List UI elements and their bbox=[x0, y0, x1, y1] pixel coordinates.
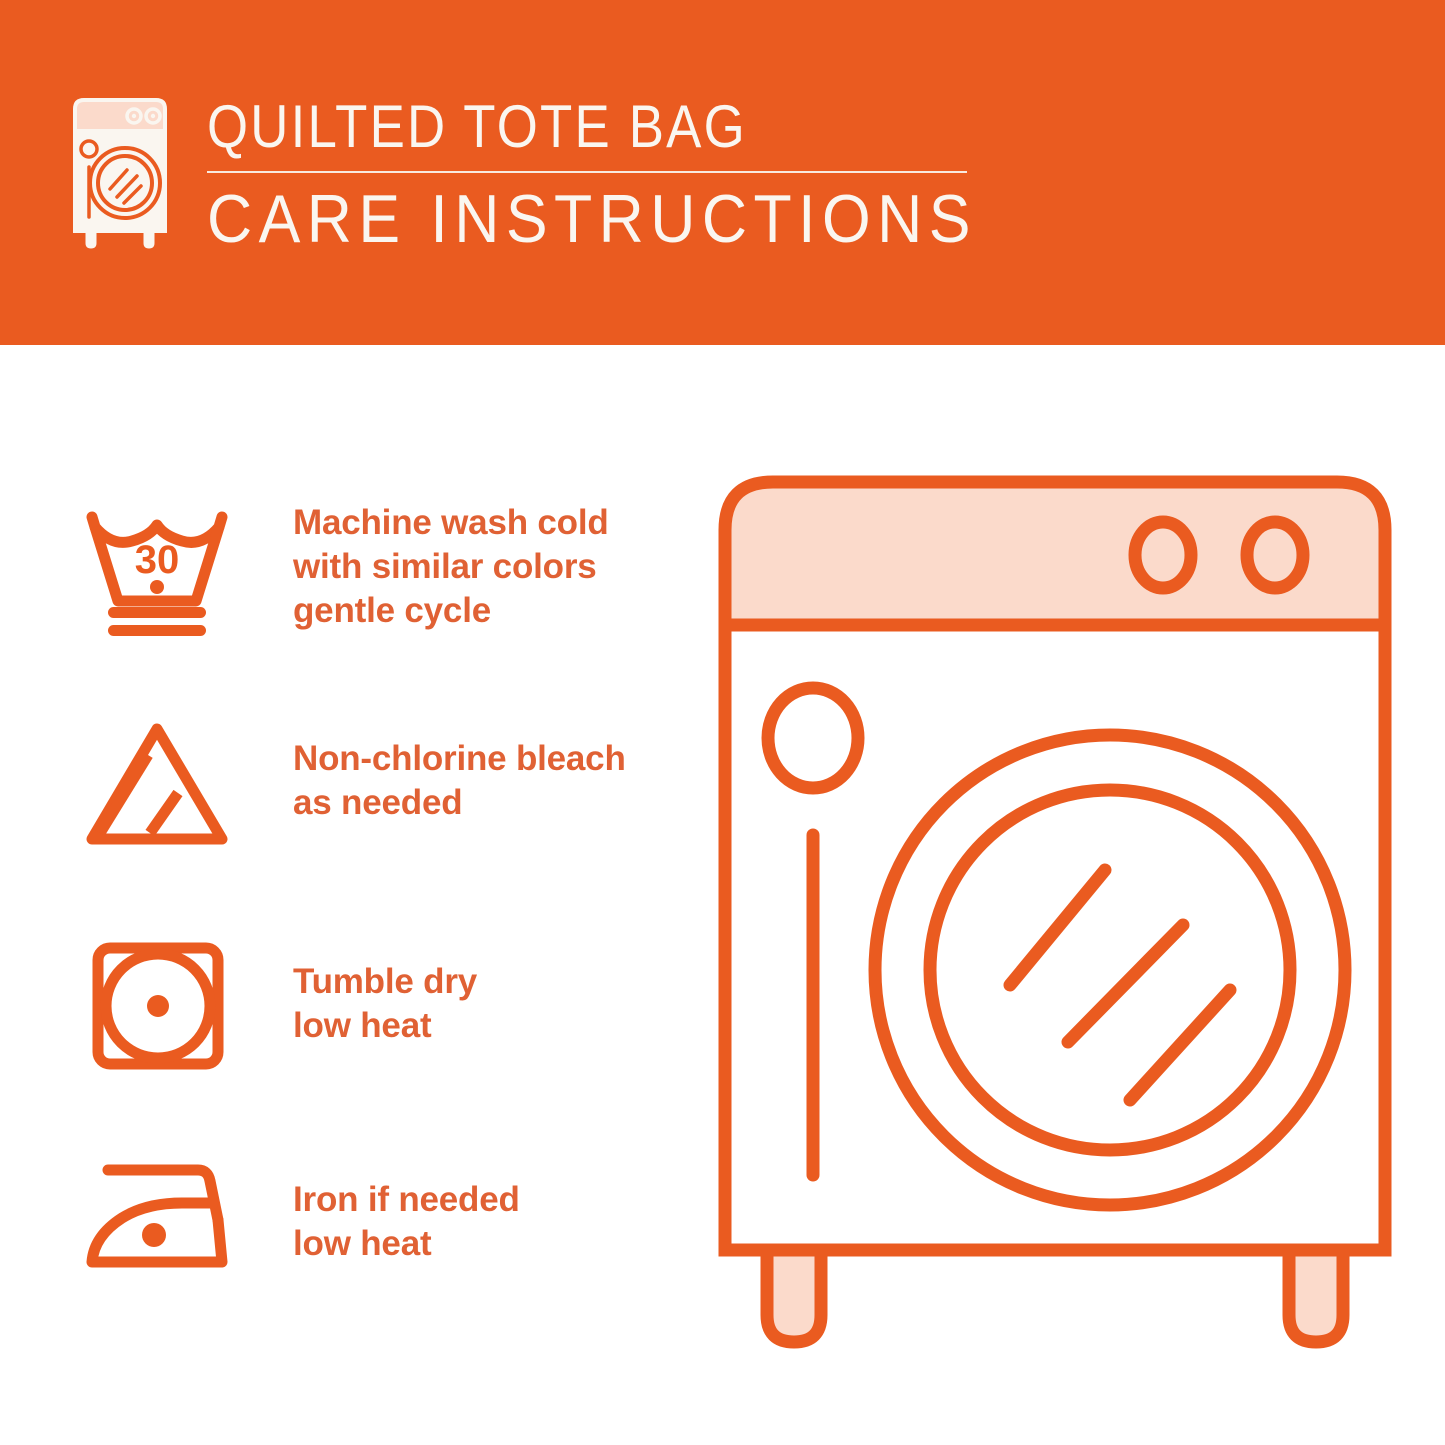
care-label-line: Non-chlorine bleach bbox=[293, 737, 626, 781]
iron-symbol-container bbox=[70, 1150, 245, 1290]
care-label-line: as needed bbox=[293, 781, 626, 825]
title-divider bbox=[207, 171, 967, 173]
care-label-machine-wash: Machine wash cold with similar colors ge… bbox=[293, 495, 609, 633]
wash-dot bbox=[150, 580, 164, 594]
gentle-bar-2 bbox=[108, 625, 206, 636]
page-title: QUILTED TOTE BAG bbox=[207, 95, 943, 159]
care-row-bleach: Non-chlorine bleach as needed bbox=[70, 715, 690, 855]
control-panel bbox=[725, 482, 1385, 625]
care-label-line: Machine wash cold bbox=[293, 501, 609, 545]
washing-machine-icon bbox=[65, 97, 175, 249]
header-banner: QUILTED TOTE BAG CARE INSTRUCTIONS bbox=[0, 0, 1445, 345]
washing-machine-illustration bbox=[715, 470, 1395, 1370]
tumble-dry-low-heat-icon bbox=[70, 930, 245, 1080]
header-titles: QUILTED TOTE BAG CARE INSTRUCTIONS bbox=[207, 93, 1044, 255]
care-label-line: with similar colors bbox=[293, 545, 609, 589]
leg-right bbox=[1289, 1250, 1343, 1342]
header-content: QUILTED TOTE BAG CARE INSTRUCTIONS bbox=[65, 93, 1044, 255]
care-row-iron: Iron if needed low heat bbox=[70, 1150, 690, 1290]
non-chlorine-bleach-triangle-icon bbox=[70, 715, 245, 855]
wash-symbol-container: 30 bbox=[70, 495, 245, 645]
bleach-symbol-container bbox=[70, 715, 245, 855]
iron-heat-dot bbox=[142, 1223, 166, 1247]
care-label-line: gentle cycle bbox=[293, 589, 609, 633]
care-row-machine-wash: 30 Machine wash cold with similar colors… bbox=[70, 495, 690, 645]
dry-heat-dot bbox=[147, 995, 169, 1017]
dry-symbol-container bbox=[70, 930, 245, 1080]
care-label-line: Iron if needed bbox=[293, 1178, 520, 1222]
care-label-tumble-dry: Tumble dry low heat bbox=[293, 930, 477, 1048]
care-label-line: low heat bbox=[293, 1004, 477, 1048]
care-instructions-list: 30 Machine wash cold with similar colors… bbox=[0, 345, 700, 1445]
care-label-line: Tumble dry bbox=[293, 960, 477, 1004]
care-label-bleach: Non-chlorine bleach as needed bbox=[293, 715, 626, 825]
iron-low-heat-icon bbox=[70, 1150, 245, 1290]
gentle-bar-1 bbox=[108, 607, 206, 618]
care-row-tumble-dry: Tumble dry low heat bbox=[70, 930, 690, 1080]
wash-temp-value: 30 bbox=[135, 538, 180, 582]
care-label-iron: Iron if needed low heat bbox=[293, 1150, 520, 1266]
page-subtitle: CARE INSTRUCTIONS bbox=[207, 183, 977, 255]
leg-left bbox=[767, 1250, 821, 1342]
care-label-line: low heat bbox=[293, 1222, 520, 1266]
wash-tub-30-gentle-icon: 30 bbox=[70, 495, 245, 645]
